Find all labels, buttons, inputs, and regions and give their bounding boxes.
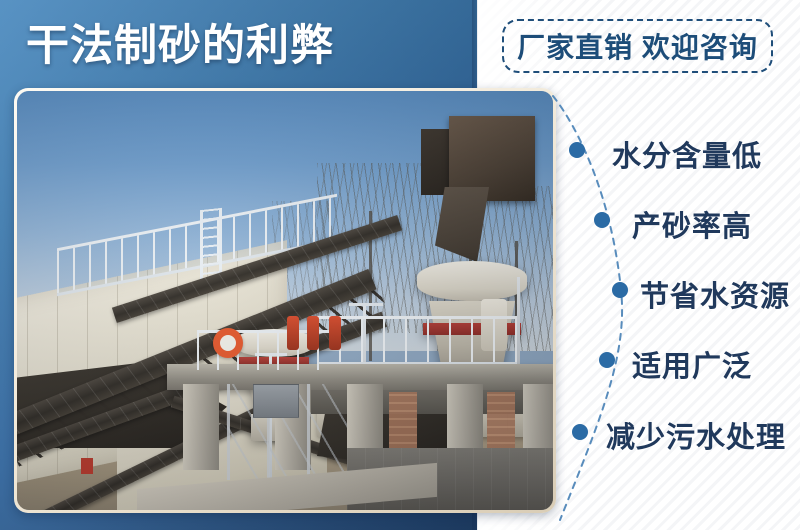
bullet-item-label-5: 减少污水处理 bbox=[606, 414, 786, 456]
bullet-item-label-4: 适用广泛 bbox=[632, 343, 752, 385]
bullet-item-label-1: 水分含量低 bbox=[612, 133, 762, 175]
promo-badge[interactable]: 厂家直销 欢迎咨询 bbox=[502, 19, 773, 73]
plant-photo bbox=[17, 91, 553, 510]
photo-vignette bbox=[17, 91, 553, 510]
page-title: 干法制砂的利弊 bbox=[26, 20, 334, 72]
photo-frame[interactable] bbox=[14, 88, 556, 513]
promo-banner: 干法制砂的利弊 厂家直销 欢迎咨询 bbox=[0, 0, 800, 530]
bullet-item-label-3: 节省水资源 bbox=[640, 273, 790, 315]
bullet-item-label-2: 产砂率高 bbox=[632, 203, 752, 245]
promo-badge-label: 厂家直销 欢迎咨询 bbox=[517, 26, 758, 66]
